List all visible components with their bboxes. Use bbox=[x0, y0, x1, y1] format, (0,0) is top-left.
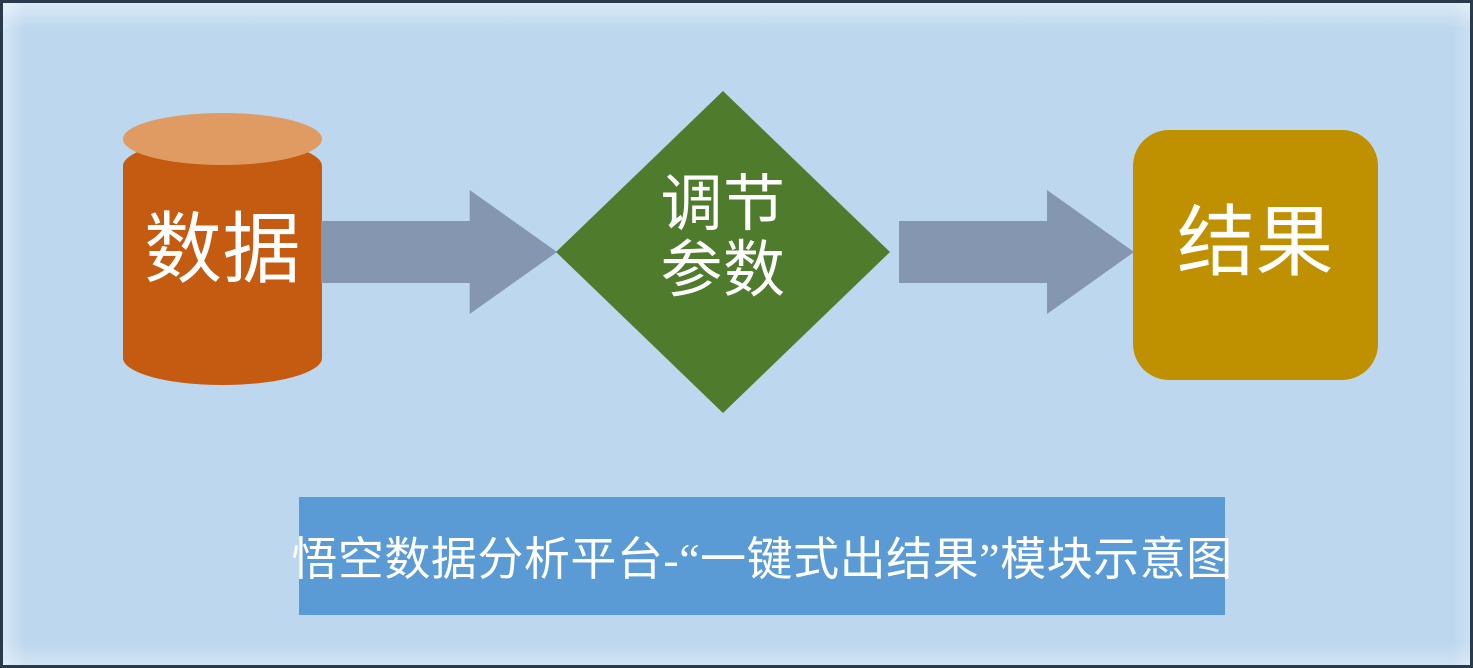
node-tune-parameters-diamond[interactable]: 调节 参数 bbox=[556, 91, 890, 413]
node-result-label: 结果 bbox=[1133, 202, 1378, 285]
cylinder-top-ellipse-icon bbox=[123, 113, 322, 165]
caption-banner: 悟空数据分析平台-“一键式出结果”模块示意图 bbox=[299, 497, 1225, 615]
caption-text: 悟空数据分析平台-“一键式出结果”模块示意图 bbox=[291, 523, 1232, 589]
node-tune-parameters-label: 调节 参数 bbox=[556, 173, 890, 304]
node-data-label: 数据 bbox=[123, 209, 322, 292]
node-result-rectangle[interactable]: 结果 bbox=[1133, 130, 1378, 380]
node-data-cylinder[interactable]: 数据 bbox=[123, 113, 322, 385]
diagram-canvas: 数据 调节 参数 结果 悟空数据分析平台-“一键式出结果”模块示意图 bbox=[0, 0, 1473, 668]
